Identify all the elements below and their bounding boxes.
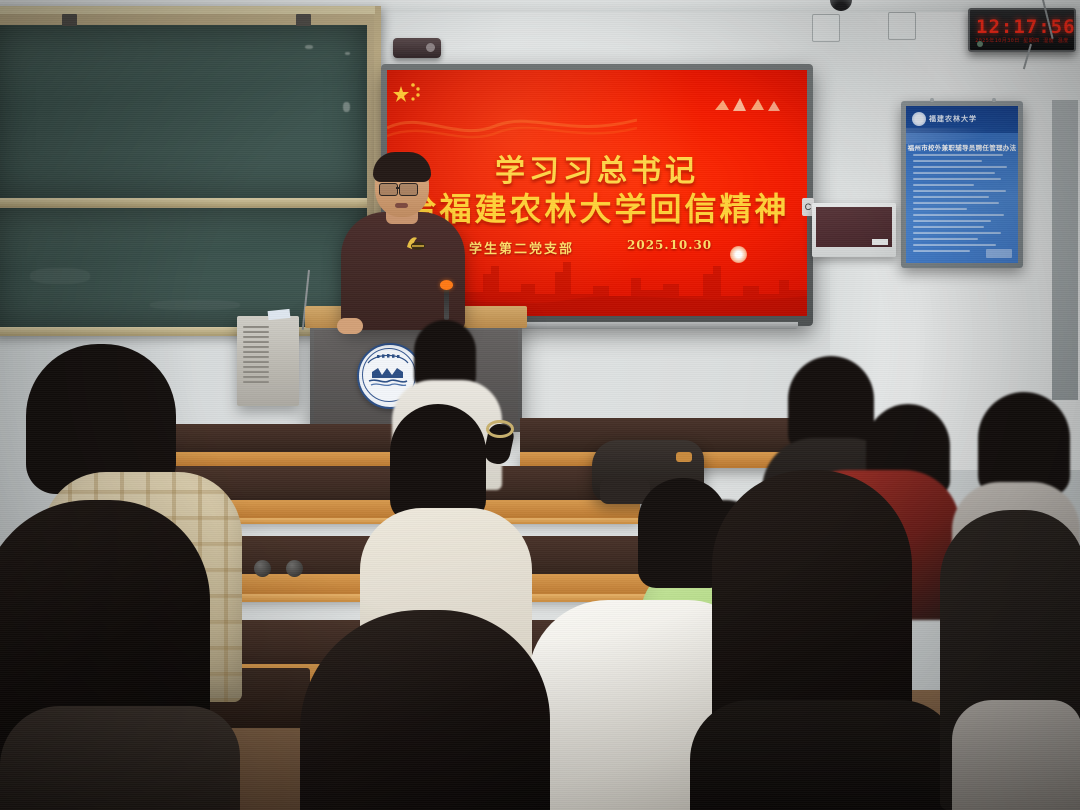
- notice-title: 福州市校外兼职辅导员聘任管理办法: [906, 142, 1018, 152]
- wall-vent-icon: [888, 12, 916, 40]
- chalk-smudge: [305, 45, 313, 49]
- slide-date: 2025.10.30: [627, 238, 712, 252]
- digital-clock: 12:17:56 2025年10月30日 星期四 湿度 温度: [968, 8, 1076, 52]
- chalkboard-clip-right: [296, 14, 311, 26]
- speaker-hand: [337, 318, 363, 334]
- av-box-vents: [243, 326, 269, 388]
- gold-ribbon-wave: [387, 106, 637, 150]
- notice-logo-text: 福建农林大学: [929, 114, 977, 124]
- student-far-right-foreground-torso: [952, 700, 1080, 810]
- chalkboard-rail-upper: [0, 198, 367, 207]
- slide-organization: 学生第二党支部: [469, 238, 574, 257]
- speaker-hair: [373, 152, 431, 182]
- wall-vent-icon: [812, 14, 840, 42]
- chalkboard-upper-panel: [0, 25, 367, 199]
- notice-board: 福建农林大学 福州市校外兼职辅导员聘任管理办法: [906, 106, 1018, 263]
- chalk-smudge: [343, 102, 350, 112]
- student-right-black-torso: [690, 700, 960, 810]
- chest-logo-icon: [404, 233, 426, 253]
- podium-microphone: [444, 286, 449, 320]
- chalk-smudge: [345, 52, 350, 55]
- speaker-mouth: [395, 203, 408, 208]
- notice-pin: [992, 98, 996, 102]
- panel-label: [872, 239, 888, 245]
- wall-camera-icon: [393, 38, 441, 58]
- chalk-smudge: [30, 268, 90, 284]
- clock-time: 12:17:56: [976, 16, 1070, 38]
- student-center-ponytail-hair: [390, 404, 486, 522]
- student-left-longhair-torso: [0, 706, 240, 810]
- microphone-head-icon: [440, 280, 453, 290]
- clock-subdisplay: 2025年10月30日 星期四 湿度 温度: [974, 37, 1070, 44]
- chalkboard-top-trim: [0, 6, 375, 14]
- eyeglasses-icon: [379, 183, 398, 196]
- notice-body-lines: [913, 154, 1011, 256]
- chalkboard-clip-left: [62, 14, 77, 26]
- notice-pin: [930, 98, 934, 102]
- slide-calligraphy-art: [711, 92, 785, 118]
- eyeglasses-bridge: [396, 187, 400, 189]
- backpack-strap: [676, 452, 692, 462]
- wall-column: [1052, 100, 1078, 400]
- university-logo-icon: [912, 112, 926, 126]
- sun-glare-dot: [730, 246, 747, 263]
- chalk-smudge: [150, 300, 240, 310]
- lecture-hall-photo: 学习习总书记 给福建农林大学回信精神 学生第二党支部 2025.10.30 C …: [0, 0, 1080, 810]
- crest-arc-text: [366, 352, 410, 364]
- seat-knob: [254, 560, 271, 577]
- seat-knob: [286, 560, 303, 577]
- hair-tie-icon: [486, 420, 514, 438]
- crest-wave-emblem: [366, 366, 410, 388]
- notice-seal: [986, 249, 1012, 258]
- clock-indicator-led: [977, 41, 983, 47]
- eyeglasses-icon: [399, 183, 418, 196]
- student-far-right-hair: [978, 392, 1070, 496]
